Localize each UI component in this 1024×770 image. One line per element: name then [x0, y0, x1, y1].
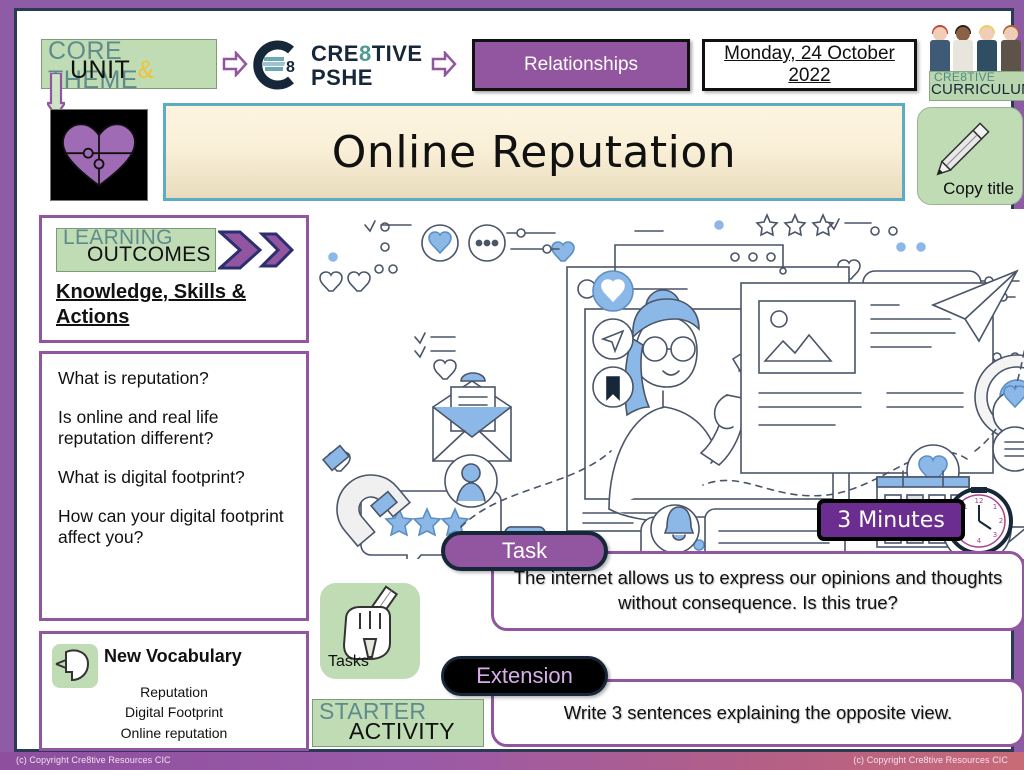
timer-widget: 3 Minutes [817, 479, 1024, 551]
core-theme-line2: UNIT & TITLE [70, 56, 216, 89]
outcome-item-4: How can your digital footprint affect yo… [58, 506, 290, 548]
tasks-label: Tasks [328, 653, 369, 671]
core-theme-title: TITLE [70, 85, 141, 89]
learning-outcomes-heading: Knowledge, Skills & Actions [56, 280, 296, 330]
learning-outcomes-line2: OUTCOMES [87, 243, 211, 267]
learning-outcomes-banner: LEARNING OUTCOMES [56, 228, 216, 272]
timer-label: 3 Minutes [837, 508, 945, 533]
extension-badge-label: Extension [476, 663, 573, 689]
starter-line2: ACTIVITY [349, 718, 455, 745]
new-vocabulary-box: New Vocabulary Reputation Digital Footpr… [39, 631, 309, 751]
vocabulary-word-2: Digital Footprint [42, 702, 306, 722]
curriculum-line2: CURRICULUM [931, 81, 1024, 98]
learning-outcomes-list: What is reputation? Is online and real l… [39, 351, 309, 621]
extension-text: Write 3 sentences explaining the opposit… [564, 702, 952, 724]
vocabulary-words: Reputation Digital Footprint Online repu… [42, 682, 306, 743]
date-badge: Monday, 24 October 2022 [702, 39, 917, 91]
outcome-item-3: What is digital footprint? [58, 467, 290, 488]
task-text: The internet allows us to express our op… [510, 566, 1006, 616]
core-theme-ampersand: & [137, 56, 154, 84]
chevron-right-icon [218, 230, 304, 270]
outcome-item-2: Is online and real life reputation diffe… [58, 407, 290, 449]
date-label: Monday, 24 October 2022 [705, 43, 914, 87]
copy-title-button[interactable]: Copy title [917, 107, 1023, 205]
vocabulary-word-3: Online reputation [42, 723, 306, 743]
student-figure-1 [929, 27, 951, 75]
curriculum-banner: CRE8TIVE CURRICULUM [929, 71, 1024, 101]
pencil-icon [924, 114, 998, 188]
extension-badge: Extension [441, 656, 608, 696]
outcome-item-1: What is reputation? [58, 368, 290, 389]
footer-bar: (c) Copyright Cre8tive Resources CIC (c)… [0, 752, 1024, 770]
brand-8: 8 [359, 41, 372, 66]
student-figure-2 [952, 27, 974, 75]
slide-root: CORE THEME UNIT & TITLE 8 CRE [0, 0, 1024, 770]
arrow-right-icon-1 [222, 51, 248, 77]
topic-label: Relationships [524, 54, 638, 76]
vocabulary-word-1: Reputation [42, 682, 306, 702]
core-theme-banner: CORE THEME UNIT & TITLE [41, 39, 217, 89]
topic-badge: Relationships [472, 39, 690, 91]
brand-name-line1: CRE8TIVE [311, 41, 423, 67]
task-badge-label: Task [502, 538, 547, 564]
page-title: Online Reputation [332, 127, 736, 178]
arrow-right-icon-2 [431, 51, 457, 77]
copy-title-label: Copy title [943, 180, 1014, 198]
puzzle-heart-icon [50, 109, 148, 201]
student-figure-3 [976, 27, 998, 75]
brand-name-line2: PSHE [311, 65, 373, 91]
student-figure-4 [1000, 27, 1022, 75]
starter-activity-banner: STARTER ACTIVITY [312, 699, 484, 747]
task-badge: Task [441, 531, 608, 571]
cre8tive-pshe-logo: 8 CRE8TIVE PSHE [247, 35, 427, 93]
tasks-icon-box: Tasks [320, 583, 420, 679]
slide-frame: CORE THEME UNIT & TITLE 8 CRE [14, 8, 1014, 752]
cre8tive-curriculum-logo: CRE8TIVE CURRICULUM [929, 25, 1024, 105]
copyright-right: (c) Copyright Cre8tive Resources CIC [853, 755, 1008, 765]
brand-cre: CRE [311, 41, 359, 66]
brand-tive: TIVE [372, 41, 423, 66]
core-theme-unit: UNIT [70, 56, 130, 84]
copyright-left: (c) Copyright Cre8tive Resources CIC [16, 755, 171, 765]
learning-outcomes-header-box: LEARNING OUTCOMES Knowledge, Skills & Ac… [39, 215, 309, 343]
logo-eight-badge: 8 [284, 59, 297, 77]
vocabulary-title: New Vocabulary [104, 646, 242, 667]
timer-badge: 3 Minutes [817, 499, 965, 541]
lesson-title-box: Online Reputation [163, 103, 905, 201]
